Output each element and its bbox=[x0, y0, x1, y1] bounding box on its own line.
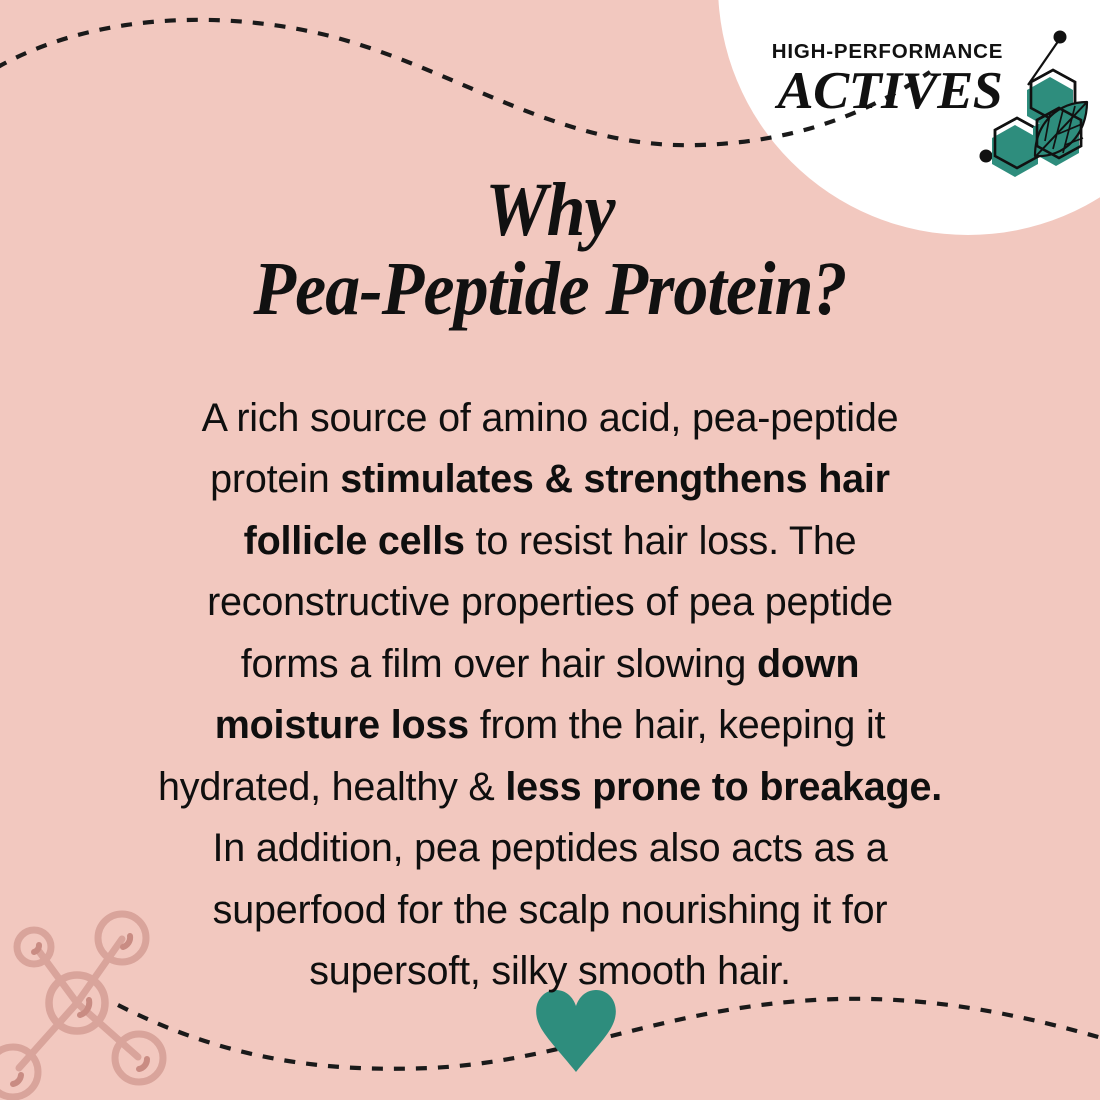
page-title-line-1: Why bbox=[44, 173, 1056, 247]
page-title: Why Pea-Peptide Protein? bbox=[0, 173, 1100, 326]
molecule-illustration bbox=[0, 900, 186, 1100]
body-segment-6: In addition, pea peptides also acts as a… bbox=[213, 826, 888, 993]
promo-card: HIGH-PERFORMANCE ACTIVES bbox=[0, 0, 1100, 1100]
page-title-line-2: Pea-Peptide Protein? bbox=[44, 252, 1056, 326]
body-paragraph: A rich source of amino acid, pea-peptide… bbox=[155, 388, 945, 1003]
body-segment-5: less prone to breakage. bbox=[505, 765, 942, 809]
hexagon-leaf-molecule-icon bbox=[975, 10, 1100, 200]
brand-logo-wordmark: HIGH-PERFORMANCE ACTIVES bbox=[765, 42, 1010, 119]
brand-logo-line-1: HIGH-PERFORMANCE bbox=[765, 42, 1010, 63]
